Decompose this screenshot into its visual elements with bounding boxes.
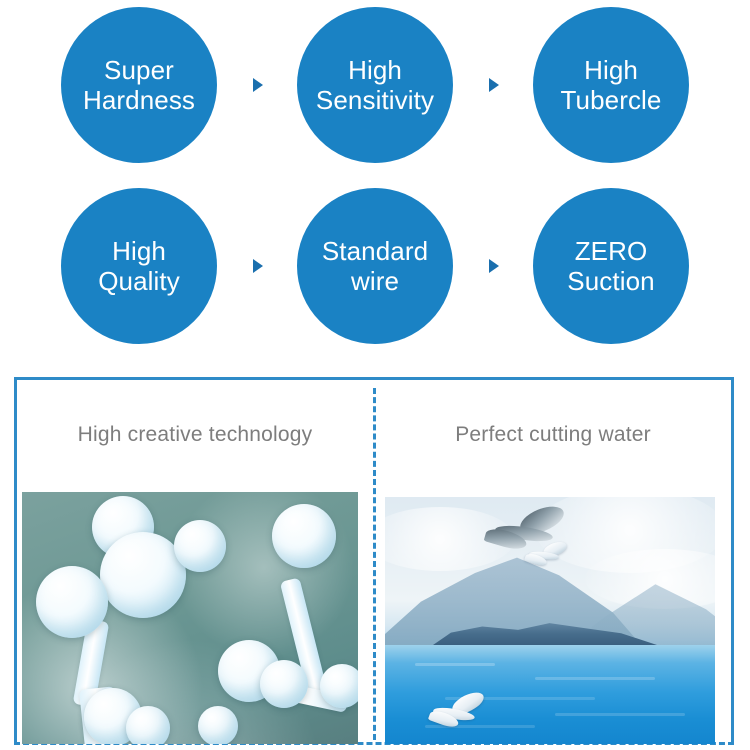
- feature-node-label-line-2: wire: [351, 266, 399, 296]
- feature-node-label-line-1: ZERO: [575, 236, 648, 266]
- molecule-atom: [174, 520, 226, 572]
- showcase-caption: Perfect cutting water: [375, 423, 731, 447]
- feature-node-zero-suction[interactable]: ZERO Suction: [533, 188, 689, 344]
- feature-node-label-line-2: Tubercle: [561, 85, 662, 115]
- feature-flow-diagram: Super Hardness High Sensitivity High Tub…: [0, 0, 750, 362]
- molecular-structure-photo: [22, 492, 358, 744]
- feature-node-label-line-2: Suction: [567, 266, 654, 296]
- water-ripple: [415, 663, 495, 666]
- molecule-atom: [198, 706, 238, 744]
- feature-node-super-hardness[interactable]: Super Hardness: [61, 7, 217, 163]
- feature-node-standard-wire[interactable]: Standard wire: [297, 188, 453, 344]
- lake-seagull-photo: [385, 497, 715, 744]
- feature-node-label-line-1: Standard: [322, 236, 428, 266]
- feature-flow-row-1: Super Hardness High Sensitivity High Tub…: [0, 7, 750, 163]
- feature-node-label-line-1: High: [348, 55, 402, 85]
- showcase-cell-perfect-cutting-water: Perfect cutting water: [375, 380, 731, 742]
- feature-flow-row-2: High Quality Standard wire ZERO Suction: [0, 188, 750, 344]
- arrow-right-icon: [489, 259, 499, 273]
- feature-node-label-line-1: High: [112, 236, 166, 266]
- showcase-cell-high-creative-technology: High creative technology: [17, 380, 373, 742]
- feature-node-label-line-2: Hardness: [83, 85, 195, 115]
- feature-node-high-tubercle[interactable]: High Tubercle: [533, 7, 689, 163]
- arrow-right-icon: [489, 78, 499, 92]
- feature-node-label-line-2: Quality: [98, 266, 180, 296]
- feature-node-label-line-1: High: [584, 55, 638, 85]
- seagull-icon: [525, 543, 571, 567]
- seagull-icon: [429, 695, 491, 727]
- arrow-right-icon: [253, 259, 263, 273]
- showcase-caption: High creative technology: [17, 423, 373, 447]
- feature-node-label-line-1: Super: [104, 55, 174, 85]
- feature-node-high-quality[interactable]: High Quality: [61, 188, 217, 344]
- water-ripple: [535, 677, 655, 680]
- molecule-atom: [320, 664, 358, 708]
- water-ripple: [555, 713, 685, 716]
- molecule-atom: [272, 504, 336, 568]
- showcase-panel: High creative technology: [14, 377, 734, 745]
- molecule-atom: [36, 566, 108, 638]
- arrow-right-icon: [253, 78, 263, 92]
- feature-node-high-sensitivity[interactable]: High Sensitivity: [297, 7, 453, 163]
- feature-node-label-line-2: Sensitivity: [316, 85, 434, 115]
- molecule-atom: [126, 706, 170, 744]
- seascape-artwork: [385, 497, 715, 744]
- molecule-atom: [260, 660, 308, 708]
- molecule-artwork: [22, 492, 358, 744]
